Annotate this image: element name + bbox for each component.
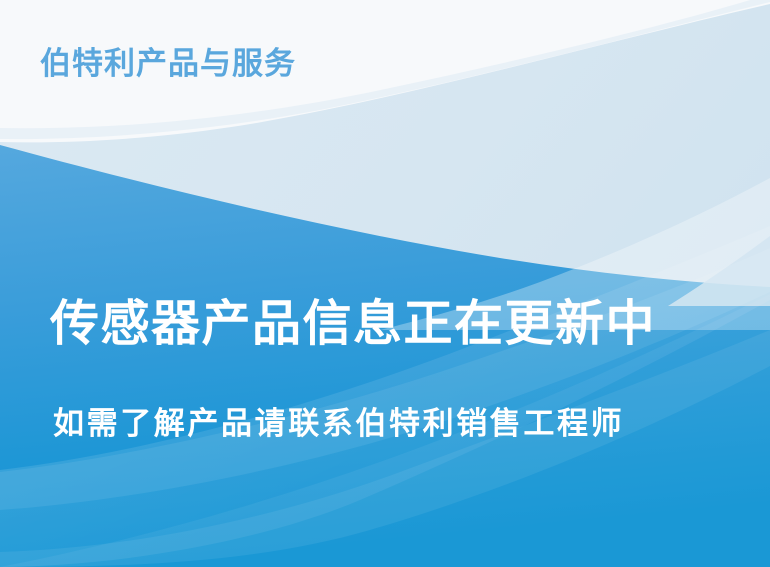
product-service-banner: 伯特利产品与服务 传感器产品信息正在更新中 如需了解产品请联系伯特利销售工程师 [0, 0, 770, 567]
notice-sub-title: 如需了解产品请联系伯特利销售工程师 [53, 406, 624, 443]
banner-content: 伯特利产品与服务 传感器产品信息正在更新中 如需了解产品请联系伯特利销售工程师 [0, 0, 770, 567]
notice-main-title: 传感器产品信息正在更新中 [50, 296, 656, 352]
page-title: 伯特利产品与服务 [40, 46, 296, 83]
